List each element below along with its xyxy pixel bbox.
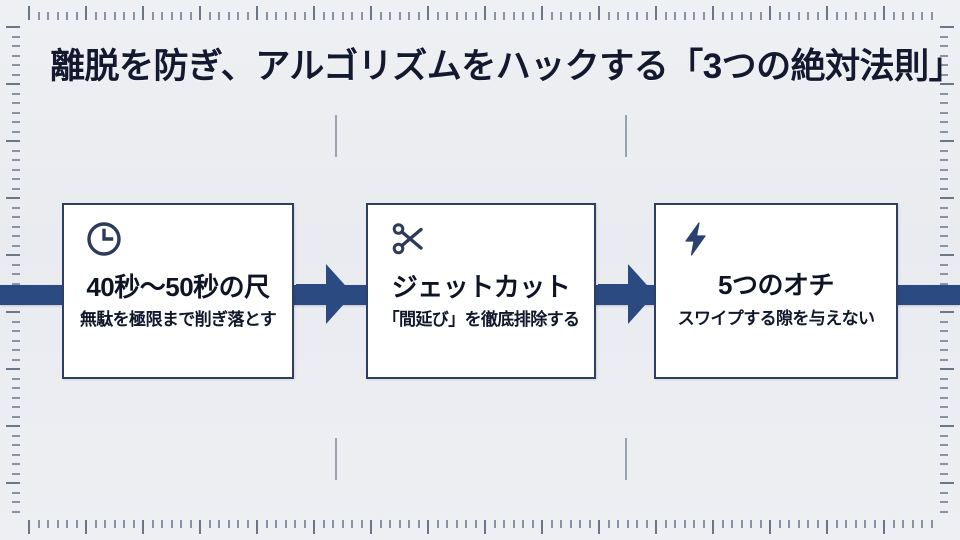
ruler-tick [940, 397, 948, 399]
ruler-tick [646, 12, 648, 20]
ruler-tick [6, 254, 20, 256]
ruler-tick [76, 520, 78, 528]
ruler-tick [940, 482, 954, 484]
ruler-tick [361, 12, 363, 20]
ruler-tick [940, 359, 948, 361]
ruler-tick [12, 45, 20, 47]
ruler-tick [845, 520, 847, 528]
ruler-tick [940, 425, 954, 427]
ruler-tick [237, 520, 239, 528]
ruler-tick [940, 406, 948, 408]
ruler-tick [769, 520, 771, 534]
ruler-tick [712, 520, 714, 534]
ruler-tick [133, 520, 135, 528]
ruler-tick [6, 83, 20, 85]
ruler-tick [389, 520, 391, 528]
clock-icon [84, 219, 124, 259]
ruler-tick [722, 520, 724, 528]
ruler-tick [199, 6, 201, 20]
ruler-tick [883, 6, 885, 20]
ruler-tick [494, 12, 496, 20]
ruler-left [4, 0, 20, 540]
ruler-tick [380, 520, 382, 528]
ruler-tick [114, 520, 116, 528]
ruler-tick [380, 12, 382, 20]
ruler-tick [104, 12, 106, 20]
ruler-tick [940, 501, 948, 503]
arrow-step1-to-step2 [296, 258, 354, 330]
ruler-tick [28, 6, 30, 20]
step-card-2[interactable]: ジェットカット 「間延び」を徹底排除する [366, 203, 596, 379]
ruler-tick [598, 520, 600, 534]
ruler-tick [389, 12, 391, 20]
ruler-tick [12, 463, 20, 465]
ruler-tick [617, 12, 619, 20]
step-card-2-subtitle: 「間延び」を徹底排除する [368, 305, 594, 330]
ruler-tick [940, 36, 948, 38]
ruler-tick [940, 492, 948, 494]
scissors-icon [388, 219, 428, 259]
ruler-tick [807, 520, 809, 528]
ruler-tick [627, 520, 629, 528]
ruler-tick [12, 188, 20, 190]
ruler-tick [940, 330, 948, 332]
ruler-tick [12, 406, 20, 408]
ruler-tick [12, 64, 20, 66]
ruler-tick [12, 444, 20, 446]
ruler-tick [247, 520, 249, 528]
ruler-tick [513, 12, 515, 20]
guide-mark-top-right [625, 115, 627, 157]
ruler-tick [484, 6, 486, 20]
ruler-tick [209, 520, 211, 528]
ruler-tick [12, 216, 20, 218]
ruler-tick [855, 520, 857, 528]
ruler-tick [6, 26, 20, 28]
ruler-tick [171, 520, 173, 528]
ruler-tick [940, 121, 948, 123]
ruler-tick [940, 511, 948, 513]
ruler-tick [275, 520, 277, 528]
ruler-tick [475, 520, 477, 528]
ruler-tick [361, 520, 363, 528]
ruler-tick [836, 12, 838, 20]
ruler-tick [351, 520, 353, 528]
ruler-tick [750, 12, 752, 20]
ruler-tick [114, 12, 116, 20]
ruler-tick [152, 12, 154, 20]
ruler-tick [883, 520, 885, 534]
ruler-tick [940, 254, 954, 256]
ruler-tick [408, 520, 410, 528]
ruler-tick [864, 520, 866, 528]
ruler-tick [294, 520, 296, 528]
ruler-tick [6, 311, 20, 313]
ruler-tick [47, 520, 49, 528]
ruler-tick [560, 12, 562, 20]
ruler-tick [12, 330, 20, 332]
ruler-tick [940, 26, 954, 28]
ruler-tick [57, 520, 59, 528]
ruler-tick [104, 520, 106, 528]
ruler-tick [750, 520, 752, 528]
ruler-tick [12, 121, 20, 123]
ruler-tick [940, 112, 948, 114]
ruler-tick [399, 12, 401, 20]
ruler-tick [12, 169, 20, 171]
ruler-tick [408, 12, 410, 20]
ruler-tick [940, 197, 954, 199]
ruler-tick [12, 473, 20, 475]
ruler-tick [161, 520, 163, 528]
ruler-tick [12, 435, 20, 437]
ruler-tick [47, 12, 49, 20]
ruler-tick [66, 12, 68, 20]
ruler-tick [275, 12, 277, 20]
ruler-tick [560, 520, 562, 528]
ruler-tick [674, 520, 676, 528]
ruler-tick [798, 12, 800, 20]
ruler-tick [190, 12, 192, 20]
ruler-tick [940, 140, 954, 142]
ruler-tick [313, 520, 315, 534]
ruler-tick [731, 12, 733, 20]
ruler-tick [931, 12, 933, 20]
ruler-tick [874, 12, 876, 20]
ruler-tick [912, 12, 914, 20]
ruler-tick [940, 435, 948, 437]
ruler-tick [940, 368, 954, 370]
ruler-tick [551, 520, 553, 528]
lightning-bolt-icon [676, 219, 716, 259]
ruler-tick [940, 321, 948, 323]
ruler-tick [940, 378, 948, 380]
ruler-tick [12, 349, 20, 351]
ruler-tick [693, 12, 695, 20]
ruler-tick [446, 12, 448, 20]
ruler-tick [12, 359, 20, 361]
guide-mark-top-left [335, 115, 337, 157]
ruler-tick [465, 12, 467, 20]
ruler-tick [807, 12, 809, 20]
ruler-tick [940, 416, 948, 418]
ruler-tick [12, 207, 20, 209]
ruler-tick [342, 520, 344, 528]
ruler-tick [940, 311, 954, 313]
ruler-tick [741, 12, 743, 20]
ruler-tick [646, 520, 648, 528]
ruler-tick [12, 93, 20, 95]
ruler-tick [427, 6, 429, 20]
ruler-tick [522, 12, 524, 20]
ruler-tick [76, 12, 78, 20]
ruler-tick [921, 520, 923, 528]
ruler-tick [579, 520, 581, 528]
ruler-tick [12, 112, 20, 114]
ruler-tick [237, 12, 239, 20]
ruler-tick [123, 520, 125, 528]
ruler-tick [475, 12, 477, 20]
ruler-tick [418, 12, 420, 20]
ruler-tick [674, 12, 676, 20]
ruler-tick [722, 12, 724, 20]
ruler-tick [769, 6, 771, 20]
ruler-tick [912, 520, 914, 528]
ruler-tick [731, 520, 733, 528]
ruler-tick [826, 6, 828, 20]
ruler-tick [370, 520, 372, 534]
ruler-tick [940, 235, 948, 237]
ruler-tick [256, 6, 258, 20]
ruler-tick [6, 197, 20, 199]
ruler-tick [579, 12, 581, 20]
ruler-tick [940, 207, 948, 209]
ruler-tick [608, 12, 610, 20]
ruler-tick [418, 520, 420, 528]
ruler-tick [12, 321, 20, 323]
ruler-tick [199, 520, 201, 534]
ruler-tick [665, 12, 667, 20]
ruler-tick [684, 12, 686, 20]
ruler-tick [940, 264, 948, 266]
ruler-tick [370, 6, 372, 20]
ruler-tick [12, 178, 20, 180]
ruler-tick [893, 12, 895, 20]
arrow-step2-to-step3 [598, 258, 656, 330]
step-card-3-subtitle: スワイプする隙を与えない [656, 304, 896, 329]
ruler-tick [323, 520, 325, 528]
ruler-tick [95, 520, 97, 528]
ruler-tick [598, 6, 600, 20]
ruler-tick [323, 12, 325, 20]
ruler-tick [12, 235, 20, 237]
ruler-tick [817, 520, 819, 528]
ruler-tick [95, 12, 97, 20]
ruler-tick [437, 520, 439, 528]
ruler-tick [798, 520, 800, 528]
ruler-tick [817, 12, 819, 20]
ruler-tick [760, 12, 762, 20]
ruler-tick [940, 463, 948, 465]
ruler-tick [940, 273, 948, 275]
ruler-tick [655, 520, 657, 534]
guide-mark-bottom-right [625, 438, 627, 480]
ruler-tick [864, 12, 866, 20]
ruler-tick [190, 520, 192, 528]
ruler-tick [541, 520, 543, 534]
guide-mark-bottom-left [335, 438, 337, 480]
ruler-tick [180, 520, 182, 528]
ruler-tick [85, 6, 87, 20]
ruler-tick [304, 520, 306, 528]
ruler-tick [351, 12, 353, 20]
ruler-tick [12, 454, 20, 456]
ruler-tick [218, 12, 220, 20]
ruler-tick [940, 349, 948, 351]
ruler-tick [940, 454, 948, 456]
ruler-tick [85, 520, 87, 534]
ruler-tick [171, 12, 173, 20]
ruler-tick [38, 12, 40, 20]
ruler-tick [123, 12, 125, 20]
ruler-tick [940, 216, 948, 218]
ruler-tick [921, 12, 923, 20]
ruler-tick [874, 520, 876, 528]
ruler-tick [940, 245, 948, 247]
ruler-tick [228, 12, 230, 20]
ruler-tick [12, 245, 20, 247]
ruler-tick [256, 520, 258, 534]
ruler-tick [12, 264, 20, 266]
ruler-tick [541, 6, 543, 20]
ruler-tick [6, 482, 20, 484]
ruler-tick [12, 55, 20, 57]
ruler-tick [779, 520, 781, 528]
ruler-tick [940, 159, 948, 161]
ruler-tick [712, 6, 714, 20]
ruler-tick [570, 520, 572, 528]
ruler-tick [12, 74, 20, 76]
ruler-tick [12, 397, 20, 399]
ruler-tick [161, 12, 163, 20]
ruler-tick [513, 520, 515, 528]
ruler-tick [855, 12, 857, 20]
ruler-tick [940, 226, 948, 228]
ruler-tick [940, 150, 948, 152]
ruler-tick [342, 12, 344, 20]
slide-canvas: 離脱を防ぎ、アルゴリズムをハックする「3つの絶対法則」 40秒〜50秒の尺 無駄… [0, 0, 960, 540]
ruler-tick [266, 12, 268, 20]
ruler-tick [28, 520, 30, 534]
ruler-tick [38, 520, 40, 528]
ruler-tick [12, 378, 20, 380]
ruler-tick [532, 12, 534, 20]
ruler-tick [6, 140, 20, 142]
ruler-tick [940, 131, 948, 133]
ruler-tick [6, 368, 20, 370]
ruler-top [0, 4, 960, 20]
ruler-tick [180, 12, 182, 20]
ruler-tick [589, 12, 591, 20]
ruler-bottom [0, 520, 960, 536]
ruler-tick [285, 520, 287, 528]
ruler-tick [12, 159, 20, 161]
ruler-tick [484, 520, 486, 534]
ruler-tick [57, 12, 59, 20]
ruler-tick [845, 12, 847, 20]
step-card-1-subtitle: 無駄を極限まで削ぎ落とす [64, 305, 292, 330]
step-card-1-title: 40秒〜50秒の尺 [64, 267, 292, 304]
ruler-tick [209, 12, 211, 20]
ruler-tick [437, 12, 439, 20]
ruler-tick [940, 473, 948, 475]
ruler-tick [788, 520, 790, 528]
ruler-tick [218, 520, 220, 528]
ruler-tick [12, 387, 20, 389]
ruler-tick [779, 12, 781, 20]
ruler-tick [940, 169, 948, 171]
ruler-tick [931, 520, 933, 528]
ruler-tick [494, 520, 496, 528]
ruler-tick [522, 520, 524, 528]
ruler-tick [684, 520, 686, 528]
ruler-tick [703, 12, 705, 20]
ruler-tick [893, 520, 895, 528]
ruler-tick [940, 444, 948, 446]
ruler-tick [532, 520, 534, 528]
ruler-tick [12, 226, 20, 228]
ruler-tick [12, 273, 20, 275]
ruler-tick [456, 520, 458, 528]
ruler-tick [456, 12, 458, 20]
ruler-tick [902, 12, 904, 20]
ruler-tick [12, 416, 20, 418]
ruler-tick [12, 131, 20, 133]
ruler-tick [285, 12, 287, 20]
step-card-3-title: 5つのオチ [656, 265, 896, 302]
step-card-2-title: ジェットカット [368, 267, 594, 304]
ruler-tick [12, 340, 20, 342]
ruler-tick [693, 520, 695, 528]
ruler-tick [940, 102, 948, 104]
ruler-tick [940, 188, 948, 190]
ruler-tick [446, 520, 448, 528]
page-title: 離脱を防ぎ、アルゴリズムをハックする「3つの絶対法則」 [50, 38, 920, 89]
ruler-tick [152, 520, 154, 528]
ruler-tick [142, 6, 144, 20]
ruler-tick [294, 12, 296, 20]
ruler-tick [940, 178, 948, 180]
step-card-1[interactable]: 40秒〜50秒の尺 無駄を極限まで削ぎ落とす [62, 203, 294, 379]
ruler-tick [617, 520, 619, 528]
ruler-tick [503, 520, 505, 528]
ruler-tick [266, 520, 268, 528]
ruler-tick [66, 520, 68, 528]
ruler-tick [465, 520, 467, 528]
ruler-tick [608, 520, 610, 528]
ruler-tick [427, 520, 429, 534]
ruler-tick [570, 12, 572, 20]
ruler-tick [332, 12, 334, 20]
ruler-tick [902, 520, 904, 528]
ruler-tick [551, 12, 553, 20]
ruler-tick [627, 12, 629, 20]
ruler-tick [940, 340, 948, 342]
ruler-tick [12, 150, 20, 152]
ruler-tick [665, 520, 667, 528]
ruler-tick [703, 520, 705, 528]
ruler-tick [589, 520, 591, 528]
ruler-tick [940, 93, 948, 95]
ruler-tick [12, 511, 20, 513]
ruler-tick [741, 520, 743, 528]
ruler-tick [133, 12, 135, 20]
ruler-tick [12, 492, 20, 494]
ruler-tick [940, 387, 948, 389]
ruler-tick [313, 6, 315, 20]
ruler-tick [760, 520, 762, 528]
step-card-3[interactable]: 5つのオチ スワイプする隙を与えない [654, 203, 898, 379]
ruler-tick [503, 12, 505, 20]
ruler-tick [836, 520, 838, 528]
ruler-tick [228, 520, 230, 528]
ruler-tick [6, 425, 20, 427]
ruler-tick [655, 6, 657, 20]
ruler-tick [12, 36, 20, 38]
ruler-tick [304, 12, 306, 20]
ruler-tick [636, 12, 638, 20]
ruler-tick [142, 520, 144, 534]
